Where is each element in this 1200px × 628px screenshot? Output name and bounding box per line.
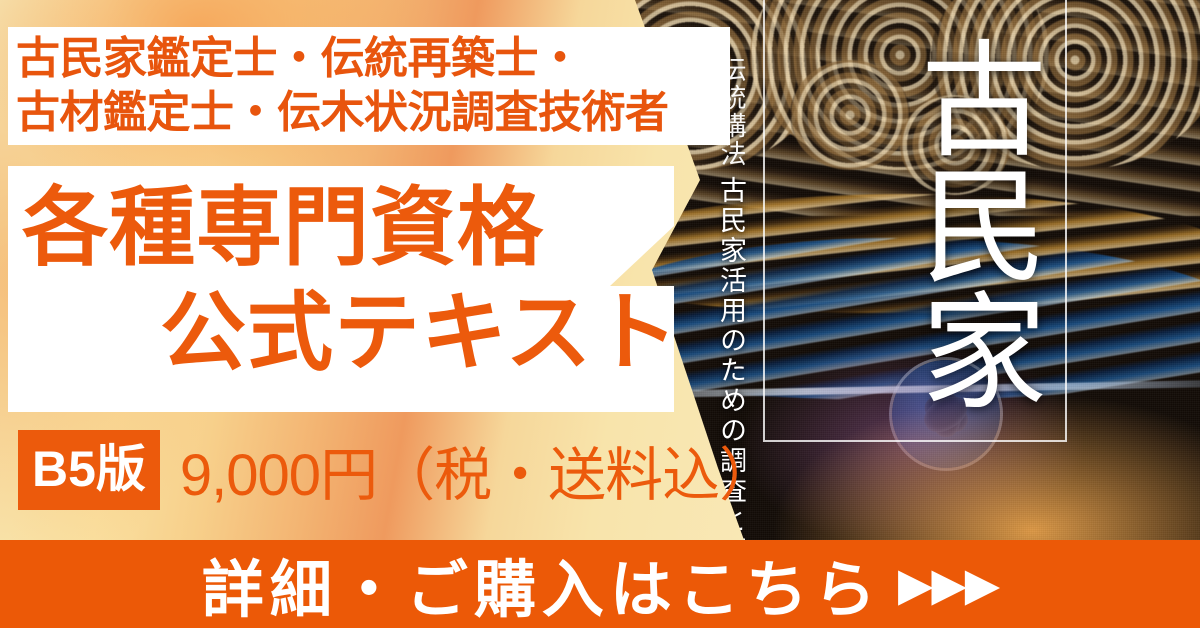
cta-label: 詳細・ご購入はこちら	[202, 539, 882, 628]
promo-banner: 古民家 伝統構法 古民家活用のための調査と再生の 古民家鑑定士・伝統再築士・ 古…	[0, 0, 1200, 628]
price-text: 9,000円（税・送料込）	[180, 428, 776, 512]
price-row: B5版 9,000円（税・送料込）	[0, 427, 700, 513]
headline-line-1: 古民家鑑定士・伝統再築士・	[16, 32, 722, 86]
main-title-line-2: 公式テキスト	[0, 281, 674, 386]
chevron-right-triple-icon: ▶▶▶	[898, 557, 998, 611]
headline-line-2: 古材鑑定士・伝木状況調査技術者	[16, 86, 722, 140]
cta-button-bar[interactable]: 詳細・ご購入はこちら ▶▶▶	[0, 540, 1200, 628]
format-badge: B5版	[18, 430, 160, 510]
main-title: 各種専門資格 公式テキスト	[0, 176, 674, 386]
book-title-vertical: 古民家	[788, 8, 1038, 438]
main-title-line-1: 各種専門資格	[0, 176, 674, 281]
headline: 古民家鑑定士・伝統再築士・ 古材鑑定士・伝木状況調査技術者	[16, 32, 722, 139]
